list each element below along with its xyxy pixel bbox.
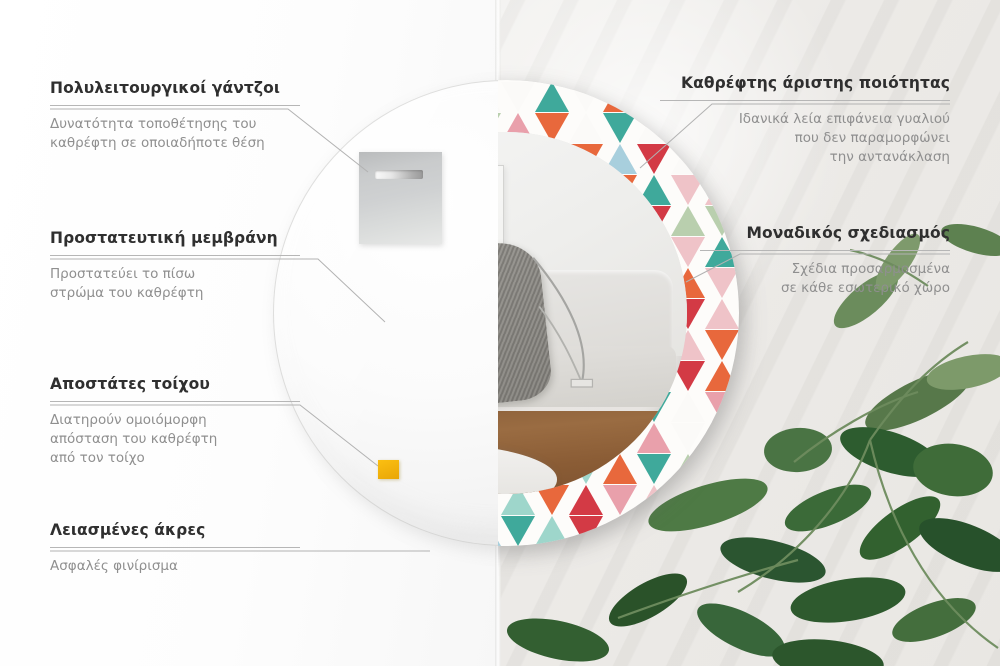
- callout-quality-desc: Ιδανικά λεία επιφάνεια γυαλιού που δεν π…: [660, 110, 950, 167]
- triangle-tile: [705, 452, 739, 486]
- triangle-tile: [603, 80, 637, 114]
- callout-hooks-desc: Δυνατότητα τοποθέτησης του καθρέφτη σε ο…: [50, 115, 300, 153]
- infographic-canvas: Πολυλειτουργικοί γάντζοι Δυνατότητα τοπο…: [0, 0, 1000, 666]
- triangle-tile: [705, 483, 739, 517]
- triangle-tile: [569, 514, 603, 546]
- triangle-tile: [705, 328, 739, 362]
- callout-membrane: Προστατευτική μεμβράνη Προστατεύει το πί…: [50, 229, 300, 303]
- callout-membrane-title: Προστατευτική μεμβράνη: [50, 229, 300, 247]
- callout-spacers: Αποστάτες τοίχου Διατηρούν ομοιόμορφη απ…: [50, 375, 300, 468]
- callout-edges-title: Λειασμένες άκρες: [50, 521, 300, 539]
- triangle-tile: [569, 80, 603, 114]
- triangle-tile: [637, 514, 671, 546]
- callout-membrane-desc: Προστατεύει το πίσω στρώμα του καθρέφτη: [50, 265, 300, 303]
- triangle-tile: [535, 80, 569, 114]
- callout-edges: Λειασμένες άκρες Ασφαλές φινίρισμα: [50, 521, 300, 576]
- triangle-tile: [705, 173, 739, 207]
- triangle-tile: [671, 514, 705, 546]
- callout-edges-desc: Ασφαλές φινίρισμα: [50, 557, 300, 576]
- callout-spacers-rule: [50, 401, 300, 402]
- triangle-tile: [705, 297, 739, 331]
- callout-membrane-rule: [50, 255, 300, 256]
- callout-hooks: Πολυλειτουργικοί γάντζοι Δυνατότητα τοπο…: [50, 79, 300, 153]
- wall-spacer-chip: [378, 460, 399, 479]
- triangle-tile: [501, 514, 535, 546]
- callout-quality-title: Καθρέφτης άριστης ποιότητας: [660, 74, 950, 92]
- triangle-tile: [603, 514, 637, 546]
- triangle-tile: [535, 514, 569, 546]
- mirror-hanging-wire: [521, 233, 673, 428]
- callout-quality: Καθρέφτης άριστης ποιότητας Ιδανικά λεία…: [660, 74, 950, 167]
- triangle-tile: [705, 390, 739, 424]
- callout-hooks-title: Πολυλειτουργικοί γάντζοι: [50, 79, 300, 97]
- callout-quality-rule: [660, 100, 950, 101]
- triangle-row: [498, 514, 739, 546]
- callout-spacers-title: Αποστάτες τοίχου: [50, 375, 300, 393]
- callout-design-title: Μοναδικός σχεδιασμός: [700, 224, 950, 242]
- triangle-tile: [705, 359, 739, 393]
- callout-edges-rule: [50, 547, 300, 548]
- hook-mounting-plate: [359, 152, 442, 244]
- triangle-tile: [705, 514, 739, 546]
- triangle-tile: [501, 80, 535, 114]
- callout-design-rule: [700, 250, 950, 251]
- callout-design-desc: Σχέδια προσαρμοσμένα σε κάθε εσωτερικό χ…: [700, 260, 950, 298]
- callout-spacers-desc: Διατηρούν ομοιόμορφη απόσταση του καθρέφ…: [50, 411, 300, 468]
- hook-slot: [375, 170, 423, 178]
- callout-design: Μοναδικός σχεδιασμός Σχέδια προσαρμοσμέν…: [700, 224, 950, 298]
- mirror-glass-reflection: [498, 132, 687, 494]
- callout-hooks-rule: [50, 105, 300, 106]
- triangle-tile: [705, 421, 739, 455]
